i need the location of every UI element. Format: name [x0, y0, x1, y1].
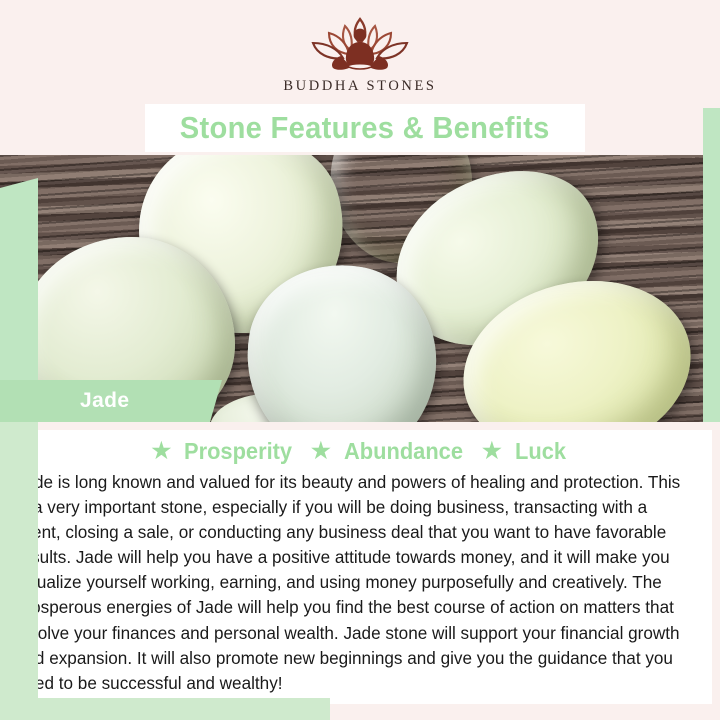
title-band: Stone Features & Benefits: [145, 104, 585, 152]
page-title: Stone Features & Benefits: [180, 110, 550, 146]
decorative-band-left-lower: [0, 420, 38, 720]
photo-caption-label: Jade: [80, 389, 129, 413]
star-icon: ★: [482, 440, 502, 462]
star-icon: ★: [152, 440, 172, 462]
lotus-meditation-icon: [301, 13, 419, 75]
brand-header: BUDDHA STONES: [0, 0, 720, 108]
decorative-band-bottom: [0, 698, 330, 720]
benefit-abundance: Abundance: [344, 438, 463, 465]
benefit-prosperity: Prosperity: [184, 438, 292, 465]
content-card: ★ Prosperity ★ Abundance ★ Luck Jade is …: [8, 430, 712, 704]
star-icon: ★: [311, 440, 331, 462]
content-panel: ★ Prosperity ★ Abundance ★ Luck Jade is …: [0, 422, 720, 720]
description-text: Jade is long known and valued for its be…: [8, 468, 701, 696]
benefits-list: ★ Prosperity ★ Abundance ★ Luck: [8, 434, 712, 468]
benefit-luck: Luck: [515, 438, 566, 465]
photo-caption-bar: Jade: [0, 380, 222, 422]
brand-name: BUDDHA STONES: [283, 78, 436, 95]
brand-logo: BUDDHA STONES: [283, 13, 436, 95]
